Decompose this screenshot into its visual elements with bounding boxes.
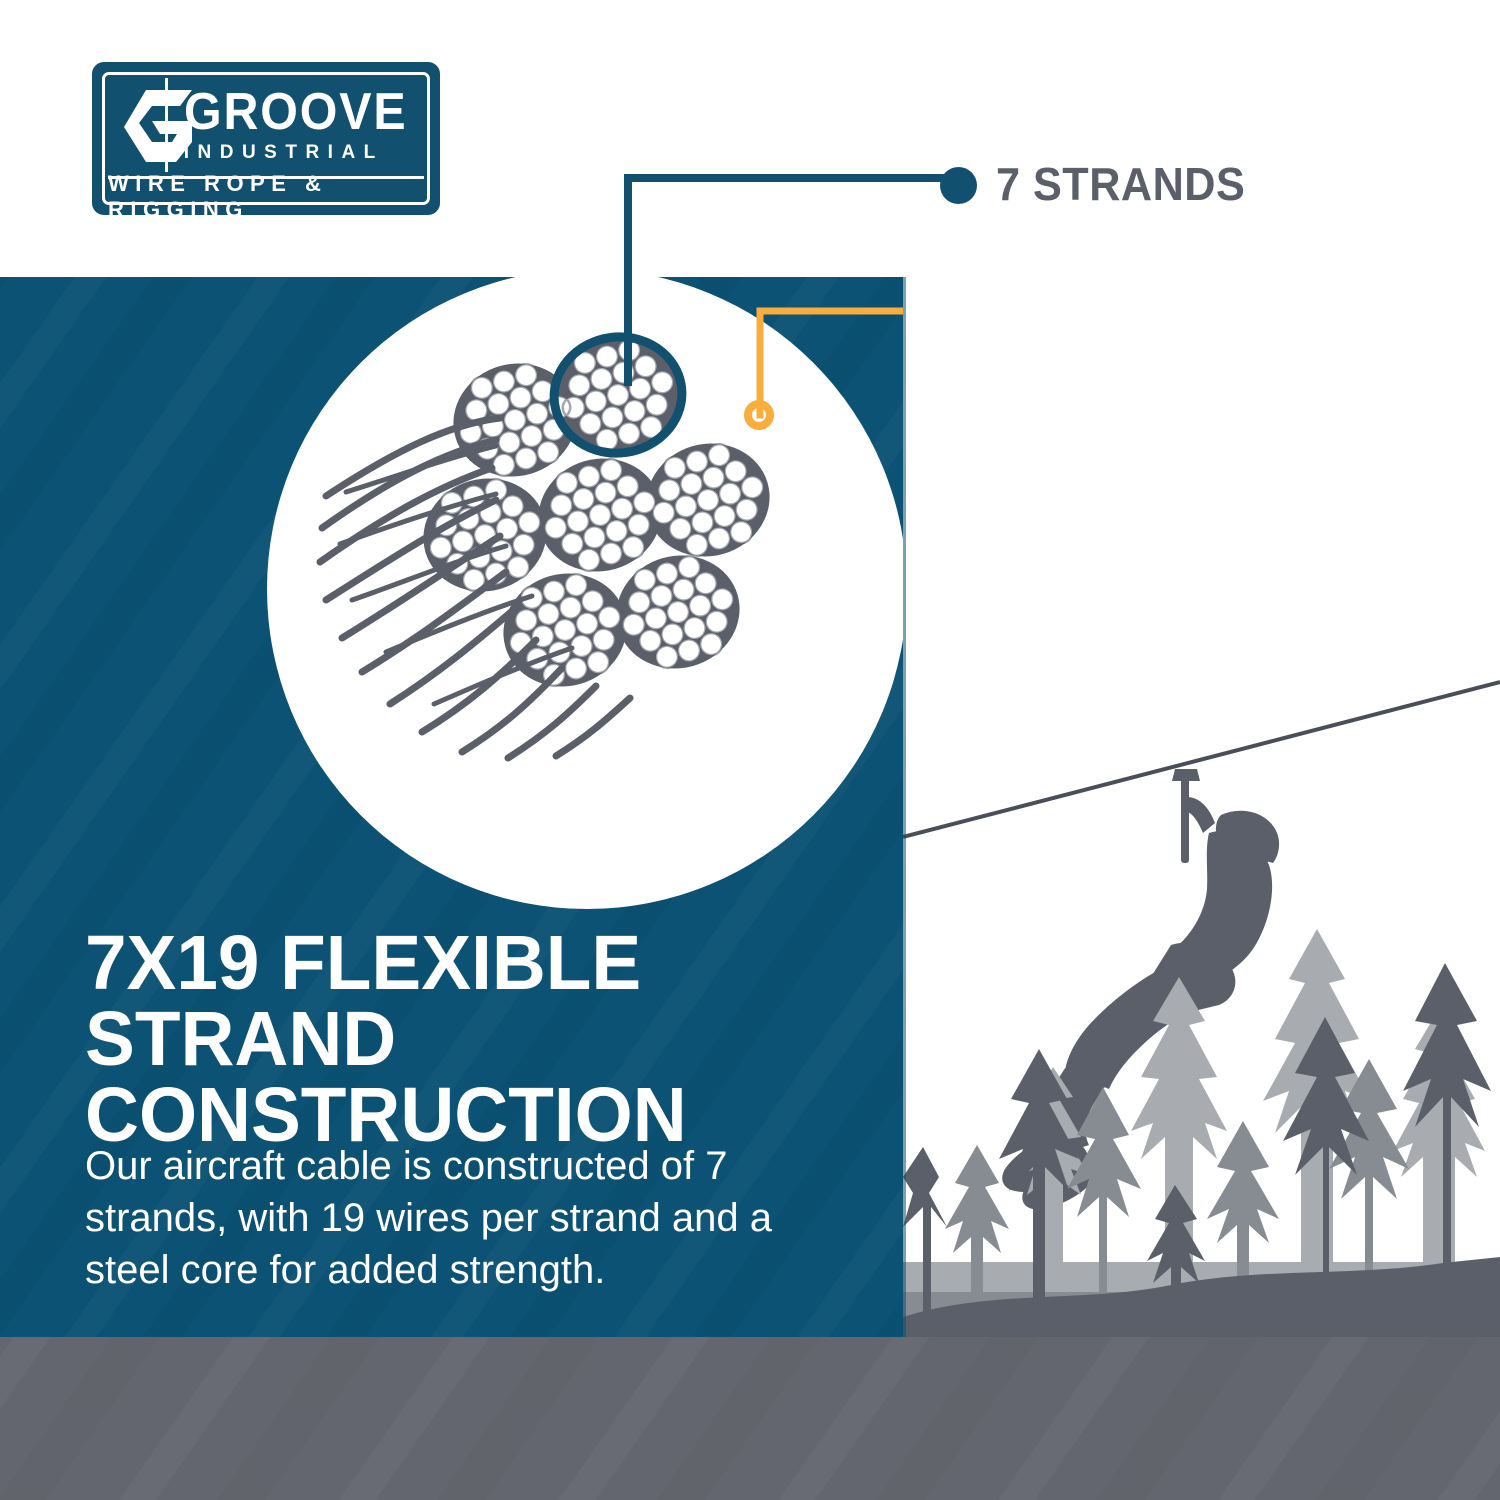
infographic-canvas: GROOVE INDUSTRIAL WIRE ROPE & RIGGING <box>0 0 1500 1500</box>
callout-anchor-ring-wires <box>744 400 774 430</box>
callout-label-strands: 7 STRANDS <box>996 158 1245 210</box>
headline-line-1: 7X19 FLEXIBLE <box>85 925 851 1001</box>
zipline-photo <box>903 277 1500 1337</box>
bottom-band <box>0 1337 1500 1500</box>
groove-g-icon <box>108 78 168 172</box>
headline-line-2: STRAND CONSTRUCTION <box>85 1001 851 1153</box>
logo-brand-subtitle: INDUSTRIAL <box>184 142 424 164</box>
band-stripe-texture <box>0 1337 1500 1500</box>
logo-primary-row: GROOVE INDUSTRIAL <box>108 78 424 172</box>
logo-wordmark: GROOVE INDUSTRIAL <box>168 78 424 172</box>
logo-outer-frame: GROOVE INDUSTRIAL WIRE ROPE & RIGGING <box>92 62 440 215</box>
page-title: 7X19 FLEXIBLE STRAND CONSTRUCTION <box>85 925 851 1153</box>
logo-brand-name: GROOVE <box>184 86 407 138</box>
logo-tagline: WIRE ROPE & RIGGING <box>108 179 424 215</box>
body-copy: Our aircraft cable is constructed of 7 s… <box>85 1140 785 1296</box>
callout-dot-strands <box>940 167 977 204</box>
brand-logo: GROOVE INDUSTRIAL WIRE ROPE & RIGGING <box>92 62 440 215</box>
